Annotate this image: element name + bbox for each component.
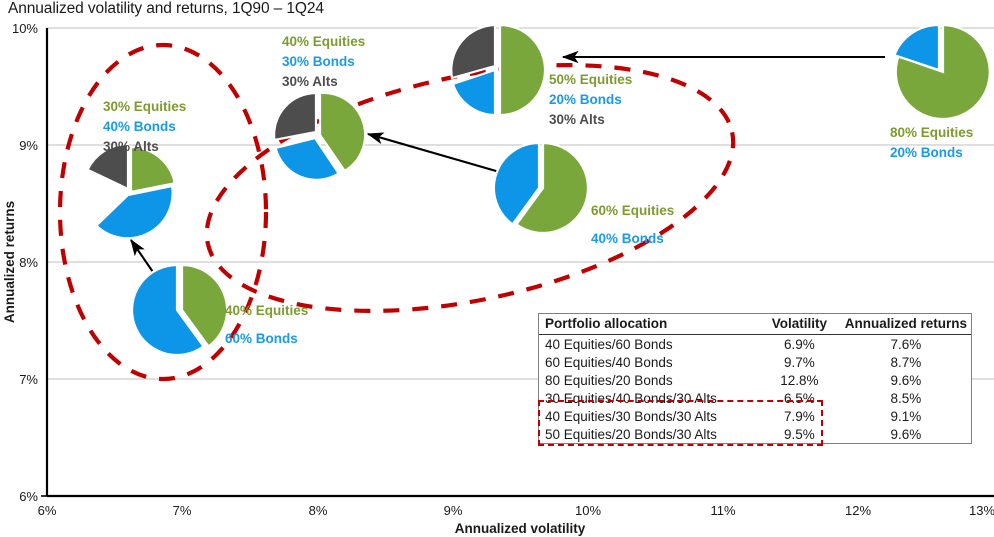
pie-marker-60-40[interactable] (494, 143, 588, 233)
cell-returns: 8.5% (839, 389, 971, 407)
cell-allocation: 40 Equities/30 Bonds/30 Alts (539, 407, 758, 425)
cell-volatility: 6.5% (758, 389, 839, 407)
portfolio-allocation-table: Portfolio allocation Volatility Annualiz… (538, 313, 972, 444)
label-alts: 30% Alts (103, 137, 186, 157)
x-tick-11: 11% (710, 503, 735, 518)
x-axis-title: Annualized volatility (455, 521, 586, 536)
pie-marker-40-60[interactable] (132, 265, 227, 355)
x-tick-7: 7% (173, 503, 192, 518)
scatter-plot-canvas: 10% 9% 8% 7% 6% 6% 7% 8% 9% 10% 11% 12% … (0, 0, 994, 537)
label-bonds: 60% Bonds (225, 325, 308, 353)
table-row: 30 Equities/40 Bonds/30 Alts 6.5% 8.5% (539, 389, 971, 407)
label-bonds: 40% Bonds (591, 225, 674, 253)
cell-volatility: 6.9% (758, 335, 839, 354)
x-tick-6: 6% (38, 503, 57, 518)
label-equities: 80% Equities (890, 123, 973, 143)
y-tick-8: 8% (19, 255, 38, 270)
y-tick-10: 10% (12, 21, 38, 36)
cell-allocation: 50 Equities/20 Bonds/30 Alts (539, 425, 758, 443)
cell-returns: 8.7% (839, 353, 971, 371)
cell-returns: 9.1% (839, 407, 971, 425)
cell-volatility: 9.5% (758, 425, 839, 443)
label-40-30-30: 40% Equities 30% Bonds 30% Alts (282, 32, 365, 92)
arrow-40-60-to-30-40-30 (131, 240, 155, 275)
header-allocation: Portfolio allocation (539, 314, 758, 335)
label-bonds: 20% Bonds (549, 90, 632, 110)
cell-allocation: 40 Equities/60 Bonds (539, 335, 758, 354)
label-alts: 30% Alts (549, 110, 632, 130)
pie-marker-50-20-30[interactable] (451, 25, 545, 115)
label-equities: 30% Equities (103, 97, 186, 117)
cell-allocation: 30 Equities/40 Bonds/30 Alts (539, 389, 758, 407)
y-tick-6: 6% (19, 489, 38, 504)
y-tick-9: 9% (19, 138, 38, 153)
cell-returns: 7.6% (839, 335, 971, 354)
label-alts: 30% Alts (282, 72, 365, 92)
table-row: 60 Equities/40 Bonds 9.7% 8.7% (539, 353, 971, 371)
table-header-row: Portfolio allocation Volatility Annualiz… (539, 314, 971, 335)
x-axis-tick-labels: 6% 7% 8% 9% 10% 11% 12% 13% (38, 503, 994, 518)
x-tick-9: 9% (444, 503, 463, 518)
table-row: 40 Equities/60 Bonds 6.9% 7.6% (539, 335, 971, 354)
label-60-40: 60% Equities 40% Bonds (591, 197, 674, 253)
label-equities: 50% Equities (549, 70, 632, 90)
cell-allocation: 60 Equities/40 Bonds (539, 353, 758, 371)
x-tick-10: 10% (575, 503, 601, 518)
label-bonds: 40% Bonds (103, 117, 186, 137)
cell-returns: 9.6% (839, 371, 971, 389)
header-volatility: Volatility (758, 314, 839, 335)
pie-marker-30-40-30[interactable] (88, 144, 175, 238)
cell-returns: 9.6% (839, 425, 971, 443)
label-equities: 40% Equities (282, 32, 365, 52)
header-returns: Annualized returns (839, 314, 971, 335)
table-row: 50 Equities/20 Bonds/30 Alts 9.5% 9.6% (539, 425, 971, 443)
table-row: 80 Equities/20 Bonds 12.8% 9.6% (539, 371, 971, 389)
label-equities: 40% Equities (225, 297, 308, 325)
x-tick-12: 12% (845, 503, 871, 518)
label-30-40-30: 30% Equities 40% Bonds 30% Alts (103, 97, 186, 157)
table-row: 40 Equities/30 Bonds/30 Alts 7.9% 9.1% (539, 407, 971, 425)
x-tick-8: 8% (309, 503, 328, 518)
label-80-20: 80% Equities 20% Bonds (890, 123, 973, 163)
arrow-60-40-to-40-30-30 (368, 134, 503, 173)
cell-allocation: 80 Equities/20 Bonds (539, 371, 758, 389)
label-50-20-30: 50% Equities 20% Bonds 30% Alts (549, 70, 632, 130)
label-bonds: 20% Bonds (890, 143, 973, 163)
label-bonds: 30% Bonds (282, 52, 365, 72)
y-tick-7: 7% (19, 372, 38, 387)
label-equities: 60% Equities (591, 197, 674, 225)
label-40-60: 40% Equities 60% Bonds (225, 297, 308, 353)
x-tick-13: 13% (969, 503, 994, 518)
y-axis-title: Annualized returns (2, 201, 17, 323)
cell-volatility: 12.8% (758, 371, 839, 389)
pie-marker-40-30-30[interactable] (274, 93, 365, 180)
pie-marker-80-20[interactable] (894, 25, 989, 119)
cell-volatility: 7.9% (758, 407, 839, 425)
cell-volatility: 9.7% (758, 353, 839, 371)
